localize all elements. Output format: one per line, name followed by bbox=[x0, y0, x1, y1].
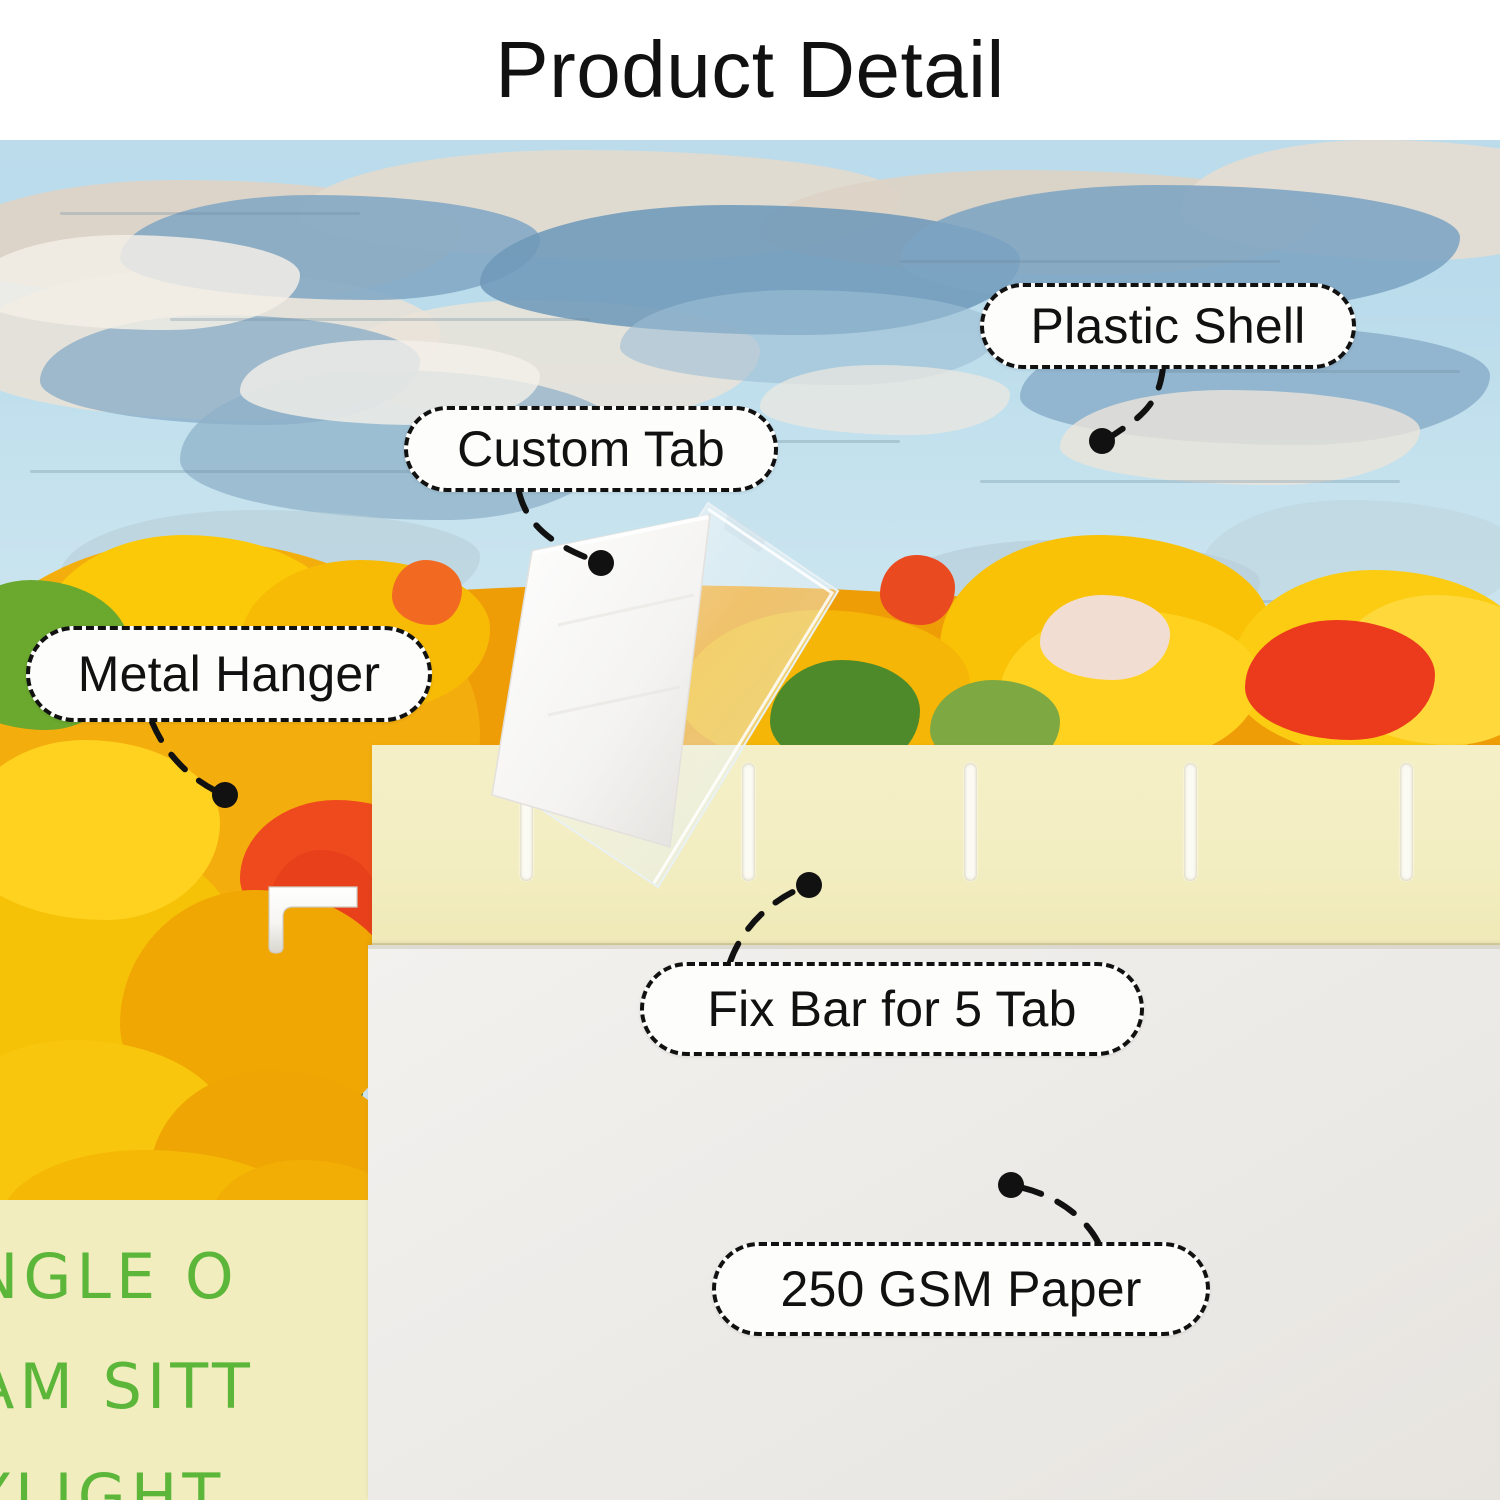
leader-line-fix-bar bbox=[730, 886, 806, 962]
annotation-label-plastic-shell: Plastic Shell bbox=[1031, 301, 1306, 351]
leader-dot-gsm-paper bbox=[998, 1172, 1024, 1198]
annotation-custom-tab[interactable]: Custom Tab bbox=[404, 406, 778, 492]
leader-dot-plastic-shell bbox=[1089, 428, 1115, 454]
annotation-metal-hanger[interactable]: Metal Hanger bbox=[26, 626, 432, 722]
annotation-fix-bar[interactable]: Fix Bar for 5 Tab bbox=[640, 962, 1144, 1056]
annotation-layer: Plastic Shell Custom Tab Metal Hanger Fi… bbox=[0, 0, 1500, 1500]
annotation-label-gsm-paper: 250 GSM Paper bbox=[780, 1264, 1141, 1314]
product-detail-infographic: Product Detail bbox=[0, 0, 1500, 1500]
annotation-gsm-paper[interactable]: 250 GSM Paper bbox=[712, 1242, 1210, 1336]
leader-dot-fix-bar bbox=[796, 872, 822, 898]
annotation-plastic-shell[interactable]: Plastic Shell bbox=[980, 283, 1356, 369]
leader-line-gsm-paper bbox=[1014, 1186, 1098, 1242]
annotation-label-fix-bar: Fix Bar for 5 Tab bbox=[707, 984, 1076, 1034]
leader-dot-custom-tab bbox=[588, 550, 614, 576]
leader-dot-metal-hanger bbox=[212, 782, 238, 808]
leader-line-plastic-shell bbox=[1106, 368, 1163, 440]
page-title: Product Detail bbox=[0, 26, 1500, 114]
leader-line-custom-tab bbox=[519, 492, 598, 562]
leader-line-metal-hanger bbox=[152, 722, 222, 794]
annotation-label-custom-tab: Custom Tab bbox=[457, 424, 725, 474]
header-bar: Product Detail bbox=[0, 0, 1500, 140]
annotation-label-metal-hanger: Metal Hanger bbox=[78, 649, 381, 699]
